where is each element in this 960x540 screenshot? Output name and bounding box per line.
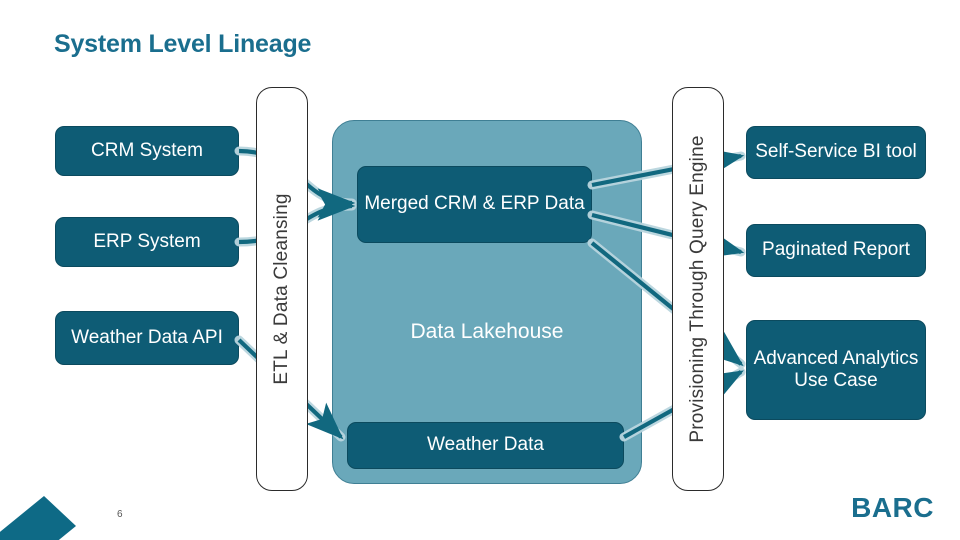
node-merged-crm-erp-data[interactable]: Merged CRM & ERP Data — [357, 166, 592, 243]
corner-accent-shape — [0, 492, 96, 540]
process-strip-etl-data-cleansing: ETL & Data Cleansing — [256, 87, 308, 491]
node-weather-data-api[interactable]: Weather Data API — [55, 311, 239, 365]
node-weather-data-label: Weather Data — [427, 434, 544, 456]
node-paginated-report[interactable]: Paginated Report — [746, 224, 926, 277]
process-strip-provisioning-label: Provisioning Through Query Engine — [687, 135, 709, 442]
node-paginated-report-label: Paginated Report — [762, 239, 910, 261]
node-advanced-analytics-use-case-label: Advanced Analytics Use Case — [753, 348, 919, 392]
node-weather-data[interactable]: Weather Data — [347, 422, 624, 469]
node-self-service-bi-tool-label: Self-Service BI tool — [755, 141, 917, 163]
slide-canvas: System Level Lineage Data Lakehouse — [0, 0, 960, 540]
barc-logo: BARC — [851, 492, 934, 524]
node-erp-system[interactable]: ERP System — [55, 217, 239, 267]
node-advanced-analytics-use-case[interactable]: Advanced Analytics Use Case — [746, 320, 926, 420]
page-title: System Level Lineage — [54, 30, 311, 59]
process-strip-provisioning-query-engine: Provisioning Through Query Engine — [672, 87, 724, 491]
node-weather-data-api-label: Weather Data API — [71, 327, 223, 349]
node-self-service-bi-tool[interactable]: Self-Service BI tool — [746, 126, 926, 179]
page-number: 6 — [117, 509, 123, 520]
node-crm-system-label: CRM System — [91, 140, 203, 162]
process-strip-etl-label: ETL & Data Cleansing — [271, 193, 293, 384]
node-crm-system[interactable]: CRM System — [55, 126, 239, 176]
node-erp-system-label: ERP System — [93, 231, 200, 253]
node-merged-crm-erp-data-label: Merged CRM & ERP Data — [364, 193, 584, 215]
